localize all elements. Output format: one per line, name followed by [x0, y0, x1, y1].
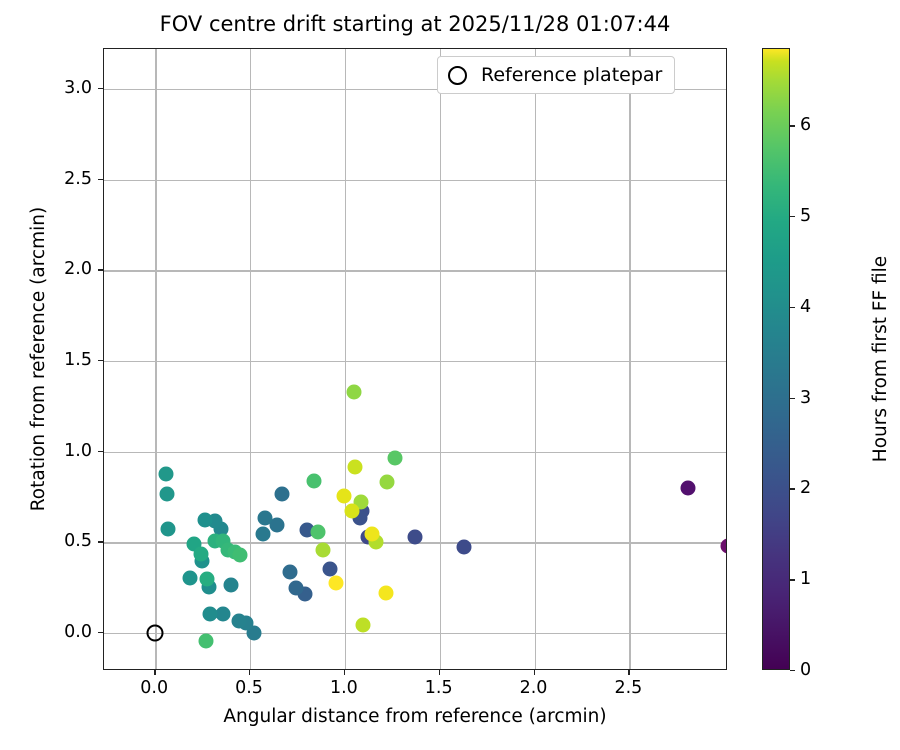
data-point[interactable]	[258, 510, 273, 525]
data-point[interactable]	[322, 561, 337, 576]
plot-area[interactable]	[103, 48, 727, 670]
x-tick	[534, 670, 535, 675]
colorbar-tick-label: 6	[800, 115, 811, 135]
x-tick-label: 1.5	[425, 678, 453, 698]
reference-platepar-marker-icon	[448, 66, 467, 85]
gridline-horizontal	[104, 270, 726, 271]
data-point[interactable]	[316, 543, 331, 558]
data-point[interactable]	[311, 525, 326, 540]
y-tick	[98, 88, 103, 89]
colorbar-tick-label: 2	[800, 478, 811, 498]
colorbar-tick-label: 0	[800, 660, 811, 680]
y-tick	[98, 632, 103, 633]
x-tick-label: 0.0	[140, 678, 168, 698]
data-point[interactable]	[378, 586, 393, 601]
y-tick-label: 0.5	[64, 531, 92, 551]
colorbar-tick-label: 1	[800, 569, 811, 589]
y-tick-label: 1.5	[64, 350, 92, 370]
colorbar-gradient	[762, 48, 790, 670]
data-point[interactable]	[288, 581, 303, 596]
colorbar-tick	[790, 488, 795, 489]
x-tick	[439, 670, 440, 675]
data-point[interactable]	[275, 487, 290, 502]
colorbar-tick	[790, 398, 795, 399]
data-point[interactable]	[408, 529, 423, 544]
x-tick	[249, 670, 250, 675]
data-point[interactable]	[344, 503, 359, 518]
data-point[interactable]	[197, 512, 212, 527]
y-tick-label: 0.0	[64, 622, 92, 642]
y-tick	[98, 179, 103, 180]
data-point[interactable]	[348, 459, 363, 474]
gridline-vertical	[155, 49, 156, 669]
gridline-vertical	[250, 49, 251, 669]
x-tick-label: 2.5	[614, 678, 642, 698]
data-point[interactable]	[379, 475, 394, 490]
page-title: FOV centre drift starting at 2025/11/28 …	[103, 12, 727, 36]
colorbar-tick-label: 3	[800, 388, 811, 408]
y-tick	[98, 451, 103, 452]
gridline-vertical	[345, 49, 346, 669]
y-tick	[98, 541, 103, 542]
data-point[interactable]	[159, 487, 174, 502]
data-point[interactable]	[232, 547, 247, 562]
data-point[interactable]	[355, 617, 370, 632]
gridline-horizontal	[104, 633, 726, 634]
data-point[interactable]	[183, 570, 198, 585]
y-tick-label: 3.0	[64, 78, 92, 98]
colorbar-tick-label: 4	[800, 297, 811, 317]
y-axis-label: Rotation from reference (arcmin)	[28, 48, 49, 670]
x-axis-label: Angular distance from reference (arcmin)	[103, 706, 727, 727]
data-point[interactable]	[336, 489, 351, 504]
x-tick	[344, 670, 345, 675]
y-tick-label: 1.0	[64, 441, 92, 461]
colorbar[interactable]	[762, 48, 790, 670]
colorbar-label: Hours from first FF file	[870, 48, 891, 670]
y-tick-label: 2.0	[64, 259, 92, 279]
colorbar-tick	[790, 670, 795, 671]
gridline-vertical	[440, 49, 441, 669]
data-point[interactable]	[365, 527, 380, 542]
y-tick	[98, 269, 103, 270]
data-point[interactable]	[306, 474, 321, 489]
data-point[interactable]	[203, 606, 218, 621]
data-point[interactable]	[224, 577, 239, 592]
data-point[interactable]	[231, 614, 246, 629]
data-point[interactable]	[158, 467, 173, 482]
data-point[interactable]	[388, 450, 403, 465]
x-tick	[628, 670, 629, 675]
data-point[interactable]	[256, 527, 271, 542]
colorbar-tick	[790, 216, 795, 217]
legend[interactable]: Reference platepar	[437, 56, 675, 94]
data-point[interactable]	[161, 521, 176, 536]
data-point[interactable]	[329, 576, 344, 591]
gridline-vertical	[535, 49, 536, 669]
data-point[interactable]	[721, 538, 728, 553]
x-tick	[154, 670, 155, 675]
data-point[interactable]	[199, 634, 214, 649]
legend-item-label: Reference platepar	[481, 64, 662, 86]
x-tick-label: 0.5	[235, 678, 263, 698]
x-tick-label: 1.0	[330, 678, 358, 698]
data-point[interactable]	[457, 539, 472, 554]
colorbar-tick-label: 5	[800, 206, 811, 226]
y-tick	[98, 360, 103, 361]
gridline-horizontal	[104, 361, 726, 362]
data-point[interactable]	[681, 480, 696, 495]
gridline-horizontal	[104, 452, 726, 453]
colorbar-tick	[790, 579, 795, 580]
colorbar-tick	[790, 125, 795, 126]
data-point[interactable]	[200, 571, 215, 586]
gridline-horizontal	[104, 180, 726, 181]
data-point[interactable]	[282, 565, 297, 580]
x-tick-label: 2.0	[520, 678, 548, 698]
gridline-vertical	[629, 49, 630, 669]
data-point[interactable]	[193, 547, 208, 562]
data-point[interactable]	[347, 384, 362, 399]
y-tick-label: 2.5	[64, 169, 92, 189]
reference-platepar-point[interactable]	[147, 624, 164, 641]
colorbar-tick	[790, 307, 795, 308]
figure-canvas: FOV centre drift starting at 2025/11/28 …	[0, 0, 900, 750]
